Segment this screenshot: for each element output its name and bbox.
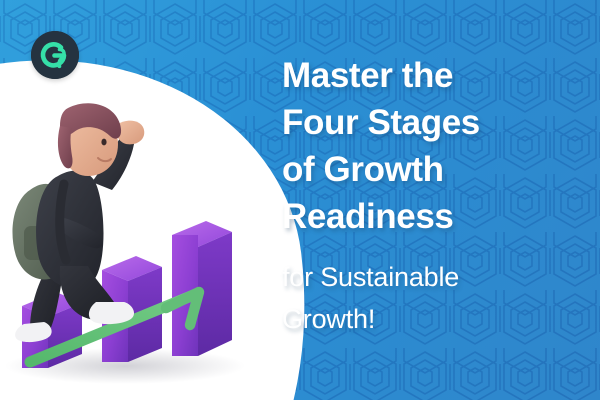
subheadline: for Sustainable Growth! xyxy=(282,256,592,340)
marketing-banner: Master the Four Stages of Growth Readine… xyxy=(0,0,600,400)
brand-logo[interactable] xyxy=(31,31,79,79)
hero-illustration xyxy=(0,80,260,400)
hair-side xyxy=(58,126,73,168)
headline: Master the Four Stages of Growth Readine… xyxy=(282,52,592,240)
front-shoe xyxy=(89,302,134,324)
eye xyxy=(101,139,106,146)
banner-copy: Master the Four Stages of Growth Readine… xyxy=(282,52,592,340)
